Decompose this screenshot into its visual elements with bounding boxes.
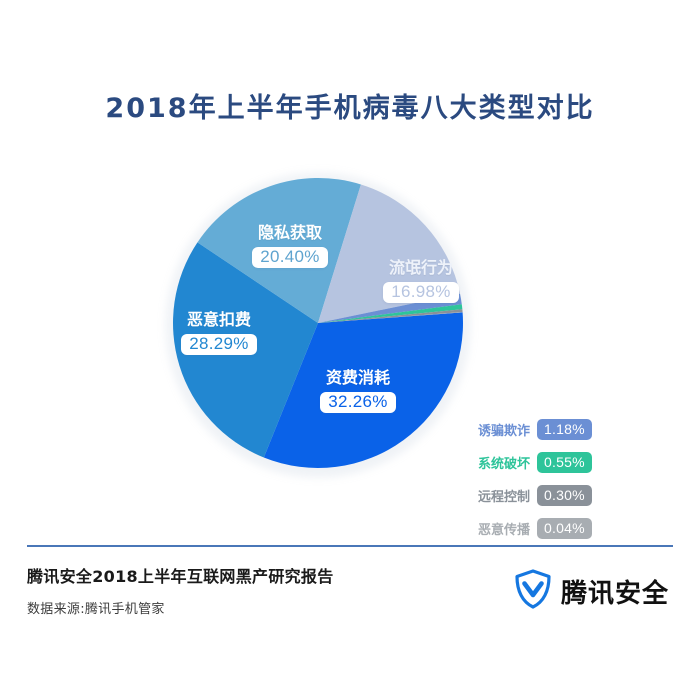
legend-item-label: 系统破坏 (478, 453, 530, 472)
footer: 腾讯安全2018上半年互联网黑产研究报告 数据来源:腾讯手机管家 腾讯安全 (27, 563, 673, 633)
pie-chart-section: 隐私获取 20.40% 流氓行为 16.98% 恶意扣费 28.29% 资费消耗… (0, 150, 700, 490)
pie-slices (173, 178, 463, 468)
legend-item-value: 0.30% (537, 485, 592, 506)
chart-legend: 诱骗欺诈1.18%系统破坏0.55%远程控制0.30%恶意传播0.04% (478, 418, 658, 550)
footer-text-block: 腾讯安全2018上半年互联网黑产研究报告 数据来源:腾讯手机管家 (27, 563, 334, 617)
brand-lockup: 腾讯安全 (514, 569, 669, 614)
legend-item-label: 恶意传播 (478, 519, 530, 538)
legend-item-label: 远程控制 (478, 486, 530, 505)
legend-item[interactable]: 诱骗欺诈1.18% (478, 418, 658, 440)
data-source: 数据来源:腾讯手机管家 (27, 598, 334, 617)
brand-name: 腾讯安全 (561, 573, 669, 610)
footer-divider (27, 545, 673, 547)
page-title: 2018年上半年手机病毒八大类型对比 (0, 86, 700, 125)
report-title: 腾讯安全2018上半年互联网黑产研究报告 (27, 563, 334, 587)
legend-item-value: 0.04% (537, 518, 592, 539)
legend-item-value: 1.18% (537, 419, 592, 440)
legend-item-label: 诱骗欺诈 (478, 420, 530, 439)
legend-item-value: 0.55% (537, 452, 592, 473)
legend-item[interactable]: 远程控制0.30% (478, 484, 658, 506)
pie-chart: 隐私获取 20.40% 流氓行为 16.98% 恶意扣费 28.29% 资费消耗… (173, 178, 463, 468)
legend-item[interactable]: 系统破坏0.55% (478, 451, 658, 473)
legend-item[interactable]: 恶意传播0.04% (478, 517, 658, 539)
infographic-card: 2018年上半年手机病毒八大类型对比 隐私获取 20.40% 流氓行为 16.9… (0, 0, 700, 680)
shield-icon (514, 569, 552, 614)
